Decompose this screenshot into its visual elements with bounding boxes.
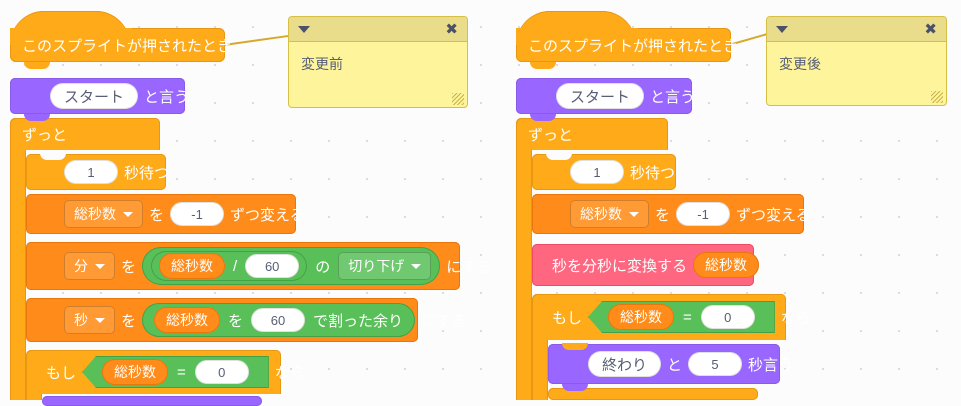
seconds-variable-dropdown[interactable]: 秒 xyxy=(64,306,115,334)
comment-connector-left xyxy=(224,35,290,46)
change-suffix: ずつ変える xyxy=(224,204,311,225)
caret-down-icon[interactable] xyxy=(776,26,788,33)
comment-header[interactable]: ✖ xyxy=(289,17,467,42)
notch xyxy=(40,153,66,160)
mod-mid-word: を xyxy=(228,310,243,331)
modulo-input[interactable]: 60 xyxy=(251,308,305,332)
set-suffix: にする xyxy=(415,310,472,331)
say-text-input[interactable]: スタート xyxy=(50,83,138,109)
say-seconds-input[interactable]: 5 xyxy=(688,352,742,376)
comment-text: 変更前 xyxy=(289,42,467,86)
equals-symbol: = xyxy=(177,364,186,381)
wait-block[interactable]: 1 秒待つ xyxy=(532,154,676,190)
forever-label: ずっと xyxy=(22,124,67,145)
say-suffix: と言う xyxy=(138,86,195,107)
say-block[interactable]: スタート と言う xyxy=(10,78,185,114)
wait-seconds-input[interactable]: 1 xyxy=(64,160,118,184)
hat-when-sprite-clicked[interactable]: このスプライトが押されたとき xyxy=(10,28,225,62)
chevron-down-icon[interactable] xyxy=(123,212,133,217)
chevron-down-icon[interactable] xyxy=(95,318,105,323)
set-connector: を xyxy=(115,310,142,331)
if-prefix: もし xyxy=(40,362,82,383)
comment-before[interactable]: ✖ 変更前 xyxy=(288,16,468,108)
change-connector: を xyxy=(649,204,676,225)
modulo-operator[interactable]: 総秒数 を 60 で割った余り xyxy=(142,303,415,337)
forever-label: ずっと xyxy=(528,124,573,145)
equals-boolean[interactable]: 総秒数 = 0 xyxy=(82,356,269,388)
notch xyxy=(562,343,588,350)
function-name: 切り下げ xyxy=(348,256,404,276)
close-icon[interactable]: ✖ xyxy=(924,22,937,37)
custom-convert-seconds-block[interactable]: 秒を分秒に変換する 総秒数 xyxy=(532,244,754,286)
notch xyxy=(530,114,556,121)
notch xyxy=(24,62,50,69)
forever-block-header[interactable]: ずっと xyxy=(10,118,160,150)
division-symbol: / xyxy=(233,258,237,275)
resize-grip-icon[interactable] xyxy=(452,93,464,105)
of-word: の xyxy=(315,256,330,277)
notch xyxy=(24,114,50,121)
resize-grip-icon[interactable] xyxy=(931,91,943,103)
wait-suffix: 秒待つ xyxy=(118,162,175,183)
equals-boolean[interactable]: 総秒数 = 0 xyxy=(588,301,775,333)
notch xyxy=(562,384,588,391)
variable-dropdown[interactable]: 総秒数 xyxy=(64,200,143,228)
wait-seconds-input[interactable]: 1 xyxy=(570,160,624,184)
hat-when-sprite-clicked[interactable]: このスプライトが押されたとき xyxy=(516,28,731,62)
chevron-down-icon[interactable] xyxy=(629,212,639,217)
change-amount-input[interactable]: -1 xyxy=(676,202,730,226)
code-workspace[interactable]: ✖ 変更前 このスプライトが押されたとき スタート と言う ずっと 1 秒待つ … xyxy=(0,0,961,400)
close-icon[interactable]: ✖ xyxy=(445,22,458,37)
forever-arm xyxy=(10,150,26,400)
variable-reporter[interactable]: 総秒数 xyxy=(608,304,674,330)
if-block-header[interactable]: もし 総秒数 = 0 なら xyxy=(532,294,786,340)
if-arm xyxy=(26,394,42,400)
say-suffix: と言う xyxy=(644,86,701,107)
variable-name: 秒 xyxy=(74,310,88,330)
custom-block-argument[interactable]: 総秒数 xyxy=(693,252,759,278)
variable-name: 分 xyxy=(74,256,88,276)
caret-down-icon[interactable] xyxy=(298,26,310,33)
variable-name: 総秒数 xyxy=(74,204,116,224)
say-text-input[interactable]: 終わり xyxy=(588,351,661,377)
compare-input[interactable]: 0 xyxy=(195,360,249,384)
divisor-input[interactable]: 60 xyxy=(245,254,299,278)
if-body-block-partial[interactable] xyxy=(42,396,262,406)
set-suffix: にする xyxy=(440,256,497,277)
forever-block-header[interactable]: ずっと xyxy=(516,118,668,150)
chevron-down-icon[interactable] xyxy=(95,264,105,269)
set-minutes-block[interactable]: 分 を 総秒数 / 60 の 切り下げ にする xyxy=(26,242,460,290)
say-for-seconds-block[interactable]: 終わり と 5 秒言う xyxy=(548,344,780,384)
comment-after[interactable]: ✖ 変更後 xyxy=(766,16,947,106)
wait-suffix: 秒待つ xyxy=(624,162,681,183)
comment-header[interactable]: ✖ xyxy=(767,17,946,42)
variable-reporter[interactable]: 総秒数 xyxy=(159,253,225,279)
if-suffix: なら xyxy=(775,307,817,328)
minutes-variable-dropdown[interactable]: 分 xyxy=(64,252,115,280)
say-text-input[interactable]: スタート xyxy=(556,83,644,109)
say-suffix: 秒言う xyxy=(742,354,799,375)
variable-dropdown[interactable]: 総秒数 xyxy=(570,200,649,228)
variable-name: 総秒数 xyxy=(580,204,622,224)
hat-label: このスプライトが押されたとき xyxy=(516,35,738,56)
math-function-operator[interactable]: 総秒数 / 60 の 切り下げ xyxy=(142,247,440,285)
if-block-header[interactable]: もし 総秒数 = 0 なら xyxy=(26,350,281,394)
chevron-down-icon[interactable] xyxy=(411,264,421,269)
change-variable-block[interactable]: 総秒数 を -1 ずつ変える xyxy=(532,194,804,234)
variable-reporter[interactable]: 総秒数 xyxy=(102,359,168,385)
change-connector: を xyxy=(143,204,170,225)
comment-text: 変更後 xyxy=(767,42,946,86)
if-arm xyxy=(532,340,548,400)
change-variable-block[interactable]: 総秒数 を -1 ずつ変える xyxy=(26,194,296,234)
custom-block-label: 秒を分秒に変換する xyxy=(546,255,693,276)
set-connector: を xyxy=(115,256,142,277)
hat-label: このスプライトが押されたとき xyxy=(10,35,232,56)
notch xyxy=(530,62,556,69)
wait-block[interactable]: 1 秒待つ xyxy=(26,154,166,190)
if-suffix: なら xyxy=(269,362,311,383)
set-seconds-block[interactable]: 秒 を 総秒数 を 60 で割った余り にする xyxy=(26,298,418,342)
say-mid-word: と xyxy=(661,354,688,375)
math-function-dropdown[interactable]: 切り下げ xyxy=(338,252,431,280)
if-prefix: もし xyxy=(546,307,588,328)
variable-reporter[interactable]: 総秒数 xyxy=(154,307,220,333)
change-amount-input[interactable]: -1 xyxy=(170,202,224,226)
mod-suffix: で割った余り xyxy=(313,310,403,331)
say-block[interactable]: スタート と言う xyxy=(516,78,692,114)
equals-symbol: = xyxy=(683,309,692,326)
compare-input[interactable]: 0 xyxy=(701,305,755,329)
forever-arm xyxy=(516,150,532,400)
division-operator[interactable]: 総秒数 / 60 xyxy=(151,251,307,281)
notch xyxy=(546,153,572,160)
change-suffix: ずつ変える xyxy=(730,204,817,225)
